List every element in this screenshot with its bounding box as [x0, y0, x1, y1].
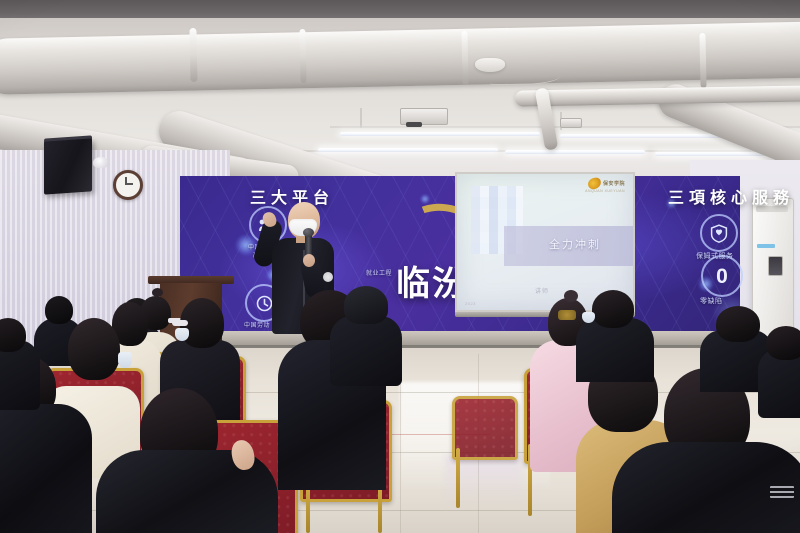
- chair-back-empty[interactable]: [452, 396, 518, 460]
- chair-leg: [456, 448, 460, 508]
- duct-band: [189, 28, 197, 82]
- duct-band: [699, 33, 706, 88]
- shield-home-icon: [700, 214, 738, 252]
- air-conditioner-badge: [757, 244, 775, 248]
- light-hanger: [360, 108, 362, 128]
- zero-defect-value: 0: [716, 266, 728, 287]
- bokeh-light: [420, 194, 430, 204]
- hair-clip-icon: [172, 320, 188, 326]
- slide-title-text: 全力冲刺: [549, 236, 601, 252]
- backdrop-headline-right: 三項核心服務: [668, 184, 794, 208]
- projector-lens: [406, 122, 422, 127]
- jacket-logo: [770, 486, 794, 498]
- shield-home-icon-svg: [710, 224, 728, 243]
- stage-platform-face: [180, 331, 740, 345]
- slide-logo-subtext: ANQUAN XUEYUAN: [585, 189, 625, 193]
- attendee-hair-tie: [152, 288, 163, 297]
- attendee-hair: [716, 306, 760, 342]
- spotlight-icon: [93, 157, 109, 168]
- ceiling-projector-mount: [560, 118, 582, 128]
- wall-clock: [113, 170, 143, 200]
- slide-subtitle: 讲师: [535, 286, 549, 295]
- led-tube: [340, 132, 540, 136]
- projection-screen: 保安学院 ANQUAN XUEYUAN 全力冲刺 讲师 2023: [457, 174, 633, 310]
- attendee-hair: [592, 290, 634, 328]
- attendee-head-with-cap: [344, 286, 388, 324]
- attendee-hair: [766, 326, 800, 360]
- hair-bun: [564, 290, 578, 302]
- duct-band: [461, 31, 468, 85]
- attendee-hair: [45, 296, 73, 324]
- clock-icon-svg: [256, 295, 273, 312]
- attendee-hair: [68, 318, 120, 380]
- zero-defect-caption: 零缺陷: [700, 296, 723, 306]
- led-tube: [318, 148, 498, 152]
- led-tube: [505, 150, 645, 154]
- attendee-torso: [0, 404, 92, 533]
- backdrop-headline-left: 三大平台: [250, 184, 334, 208]
- zero-defect-icon: 0: [701, 255, 743, 297]
- clock-icon-caption-2: 就业工程: [366, 268, 392, 277]
- duct-band: [299, 29, 306, 83]
- seminar-hall-photo: 三大平台 三項核心服務 临汾 中国青年 高质量 中国劳动 就业工程 保姆式服务 …: [0, 0, 800, 533]
- ceiling-speaker: [44, 138, 92, 194]
- hair-ornament: [558, 310, 576, 320]
- slide-logo: 保安学院: [588, 178, 625, 189]
- microphone-capsule: [303, 228, 314, 237]
- attendee-torso: [330, 316, 402, 386]
- air-conditioner-panel: [768, 256, 783, 276]
- presenter-sleeve-badge: [323, 272, 333, 282]
- slide-logo-text: 保安学院: [603, 180, 625, 187]
- clock-icon-caption: 中国劳动: [244, 320, 270, 329]
- face-mask-icon: [118, 352, 132, 368]
- presenter-mic-hand: [303, 254, 315, 267]
- slide-footer: 2023: [465, 301, 476, 306]
